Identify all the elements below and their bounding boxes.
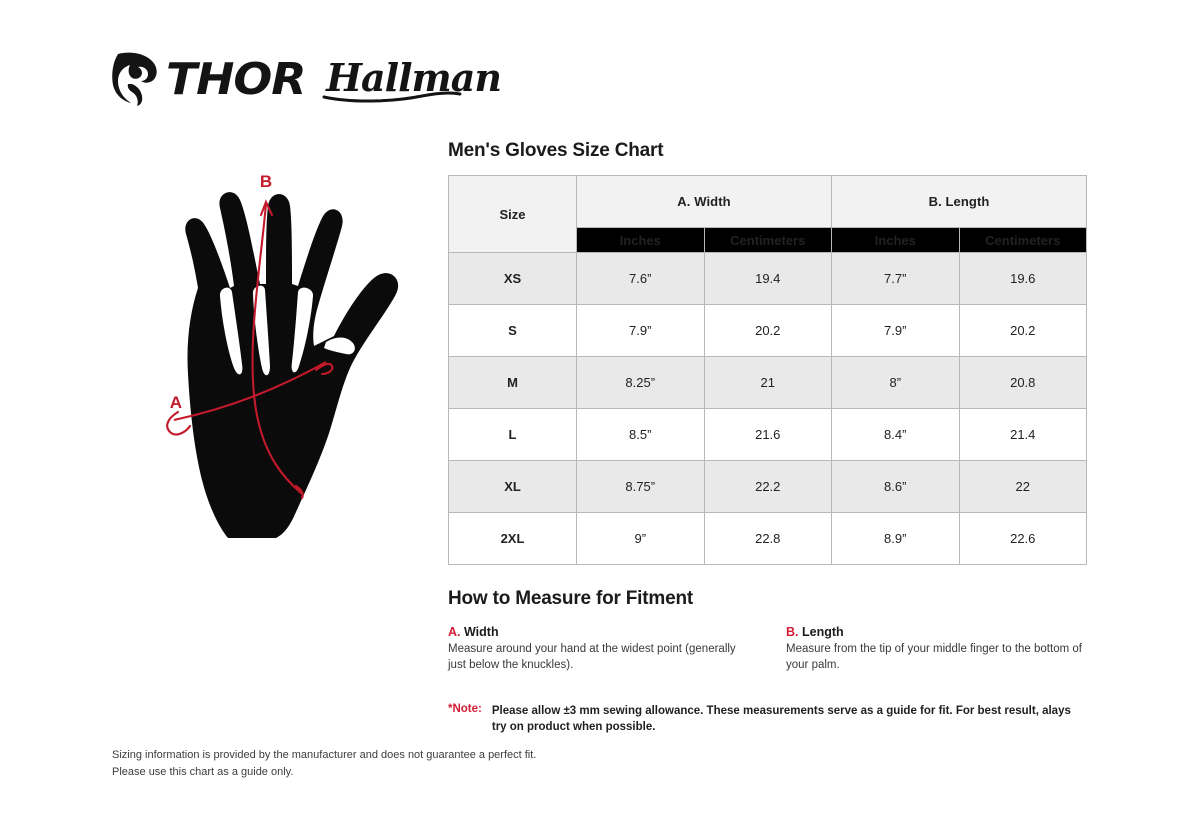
measure-length-letter: B.: [786, 625, 799, 639]
table-body: XS 7.6” 19.4 7.7” 19.6 S 7.9” 20.2 7.9” …: [449, 253, 1087, 565]
cell-size: XS: [449, 253, 577, 305]
thor-helmet-icon: [112, 50, 164, 111]
cell-width-centimeters: 19.4: [704, 253, 832, 305]
note-block: *Note: Please allow ±3 mm sewing allowan…: [448, 703, 1078, 735]
cell-width-inches: 7.6”: [577, 253, 705, 305]
footer-line-1: Sizing information is provided by the ma…: [112, 747, 536, 764]
cell-length-centimeters: 19.6: [959, 253, 1087, 305]
header-length-centimeters: Centimeters: [959, 228, 1087, 253]
table-row: L 8.5” 21.6 8.4” 21.4: [449, 409, 1087, 461]
footer-line-2: Please use this chart as a guide only.: [112, 764, 536, 781]
hallman-logo: Hallman: [326, 61, 501, 99]
cell-width-centimeters: 22.8: [704, 513, 832, 565]
thor-logo: THOR: [112, 50, 300, 111]
measure-length-heading: B. Length: [786, 625, 1091, 639]
header-width-centimeters: Centimeters: [704, 228, 832, 253]
cell-length-inches: 8.9”: [832, 513, 960, 565]
cell-width-centimeters: 21.6: [704, 409, 832, 461]
cell-size: XL: [449, 461, 577, 513]
cell-width-centimeters: 21: [704, 357, 832, 409]
cell-length-inches: 8.4”: [832, 409, 960, 461]
measure-width-description: Measure around your hand at the widest p…: [448, 642, 753, 673]
table-header: Size A. Width B. Length Inches Centimete…: [449, 176, 1087, 253]
cell-size: S: [449, 305, 577, 357]
cell-width-inches: 7.9”: [577, 305, 705, 357]
measure-item-length: B. Length Measure from the tip of your m…: [786, 625, 1091, 673]
cell-length-inches: 8.6”: [832, 461, 960, 513]
cell-size: 2XL: [449, 513, 577, 565]
label-b: B: [260, 172, 272, 191]
hand-silhouette-icon: [185, 192, 398, 538]
header-width-inches: Inches: [577, 228, 705, 253]
cell-length-centimeters: 22.6: [959, 513, 1087, 565]
cell-length-inches: 7.9”: [832, 305, 960, 357]
header-length-inches: Inches: [832, 228, 960, 253]
cell-width-inches: 8.25”: [577, 357, 705, 409]
brand-logo-bar: THOR Hallman: [112, 50, 501, 110]
measure-width-letter: A.: [448, 625, 461, 639]
measure-length-description: Measure from the tip of your middle fing…: [786, 642, 1091, 673]
footer-disclaimer: Sizing information is provided by the ma…: [112, 747, 536, 781]
table-row: M 8.25” 21 8” 20.8: [449, 357, 1087, 409]
cell-width-inches: 8.5”: [577, 409, 705, 461]
header-group-width: A. Width: [577, 176, 832, 228]
cell-width-centimeters: 20.2: [704, 305, 832, 357]
size-chart-table: Size A. Width B. Length Inches Centimete…: [448, 175, 1087, 565]
page-title: Men's Gloves Size Chart: [448, 140, 663, 162]
table-row: S 7.9” 20.2 7.9” 20.2: [449, 305, 1087, 357]
cell-width-inches: 8.75”: [577, 461, 705, 513]
measure-item-width: A. Width Measure around your hand at the…: [448, 625, 753, 673]
measure-width-heading: A. Width: [448, 625, 753, 639]
measure-length-label: Length: [802, 625, 844, 639]
cell-size: L: [449, 409, 577, 461]
measure-width-label: Width: [464, 625, 499, 639]
cell-length-inches: 8”: [832, 357, 960, 409]
cell-size: M: [449, 357, 577, 409]
note-label: *Note:: [448, 703, 482, 715]
cell-length-centimeters: 20.2: [959, 305, 1087, 357]
header-group-length: B. Length: [832, 176, 1087, 228]
header-size: Size: [449, 176, 577, 253]
cell-width-centimeters: 22.2: [704, 461, 832, 513]
cell-length-inches: 7.7”: [832, 253, 960, 305]
hallman-swash-icon: [322, 89, 462, 103]
table-row: XL 8.75” 22.2 8.6” 22: [449, 461, 1087, 513]
howto-title: How to Measure for Fitment: [448, 588, 693, 610]
thor-wordmark: THOR: [166, 58, 305, 102]
cell-length-centimeters: 20.8: [959, 357, 1087, 409]
note-text: Please allow ±3 mm sewing allowance. The…: [492, 703, 1078, 735]
table-row: 2XL 9” 22.8 8.9” 22.6: [449, 513, 1087, 565]
cell-width-inches: 9”: [577, 513, 705, 565]
table-header-row-groups: Size A. Width B. Length: [449, 176, 1087, 228]
hand-measurement-diagram: A B: [120, 160, 440, 560]
cell-length-centimeters: 21.4: [959, 409, 1087, 461]
table-row: XS 7.6” 19.4 7.7” 19.6: [449, 253, 1087, 305]
cell-length-centimeters: 22: [959, 461, 1087, 513]
label-a: A: [170, 393, 182, 412]
